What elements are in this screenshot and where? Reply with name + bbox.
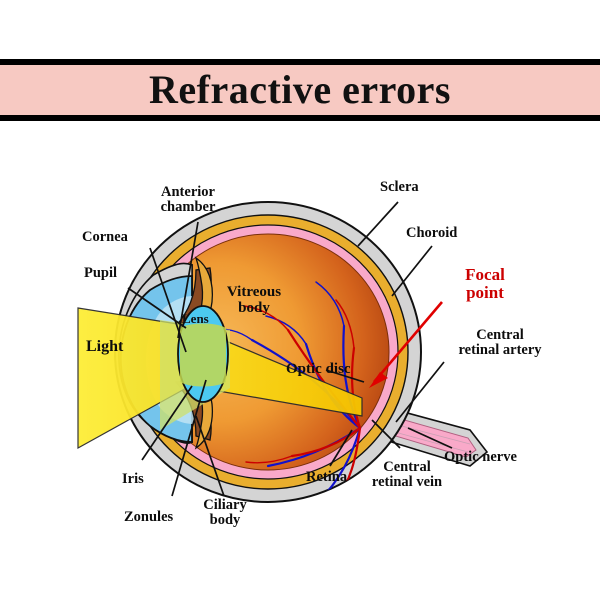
label-cornea: Cornea <box>82 230 128 245</box>
label-ciliary-body: Ciliary body <box>196 498 254 528</box>
label-zonules: Zonules <box>124 510 173 525</box>
label-light: Light <box>86 339 123 356</box>
label-lens: Lens <box>182 312 209 326</box>
banner-body: Refractive errors <box>0 65 600 115</box>
label-pupil: Pupil <box>84 266 117 281</box>
banner-rule-bottom <box>0 115 600 121</box>
diagram-stage: Anterior chamber Cornea Pupil Sclera Cho… <box>0 130 600 600</box>
label-optic-disc: Optic disc <box>286 362 351 378</box>
label-iris: Iris <box>122 472 144 487</box>
title-banner: Refractive errors <box>0 59 600 121</box>
label-vitreous-body: Vitreous body <box>208 285 300 316</box>
label-anterior-chamber: Anterior chamber <box>138 185 238 215</box>
diagram-page: Refractive errors <box>0 0 600 600</box>
label-retina: Retina <box>306 470 347 485</box>
label-sclera: Sclera <box>380 180 419 195</box>
page-title: Refractive errors <box>149 70 451 110</box>
label-central-retinal-vein: Central retinal vein <box>352 460 462 490</box>
label-choroid: Choroid <box>406 226 457 241</box>
label-focal-point: Focal point <box>442 266 528 301</box>
label-central-retinal-artery: Central retinal artery <box>438 328 562 358</box>
leader-sclera <box>358 202 398 246</box>
lens-beam-overlap <box>180 324 226 387</box>
